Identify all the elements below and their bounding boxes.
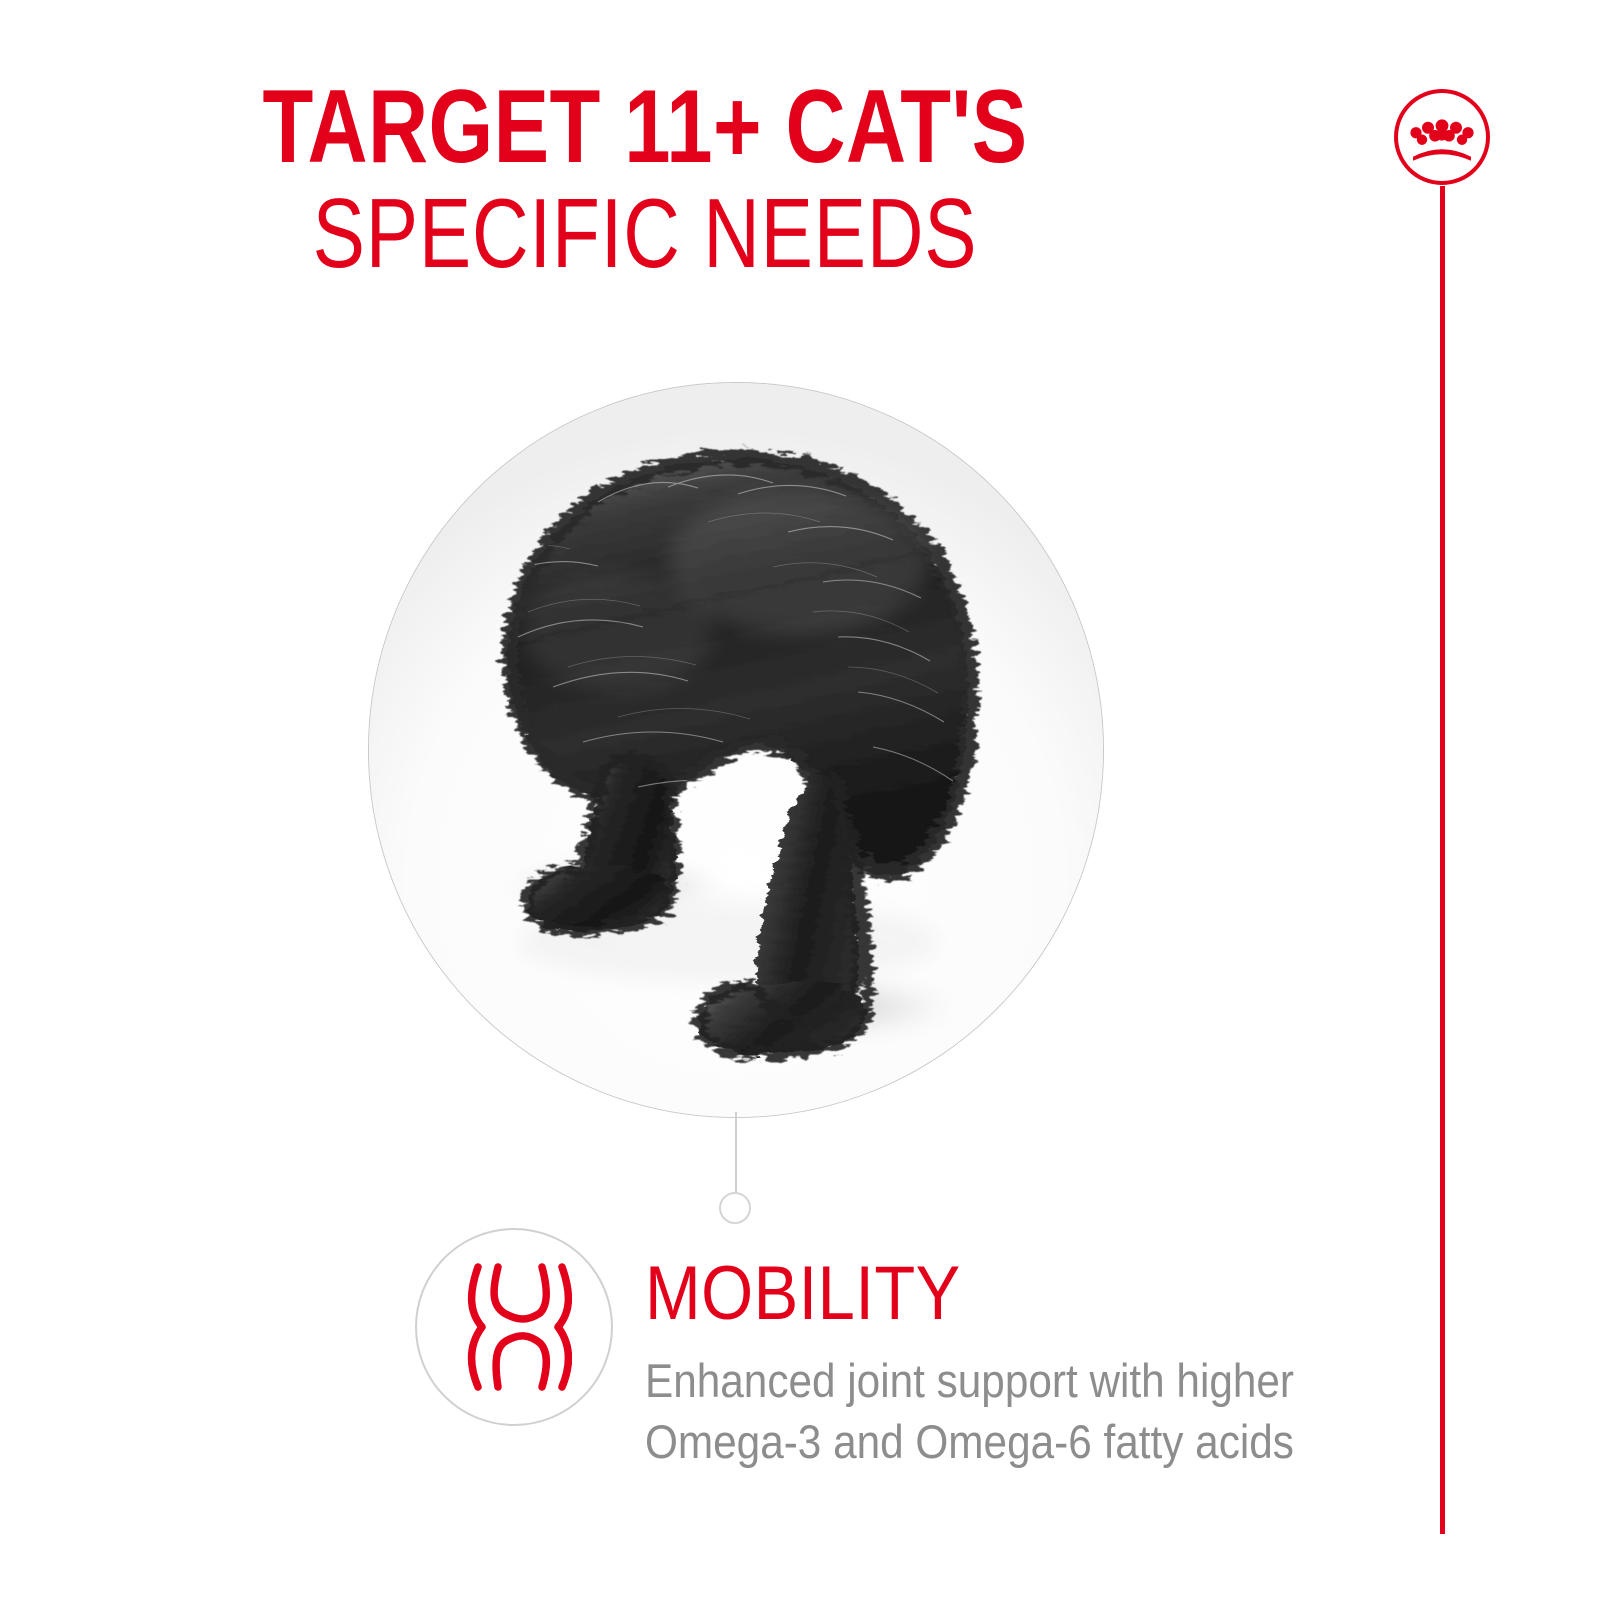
benefit-description: Enhanced joint support with higher Omega… — [645, 1350, 1302, 1472]
cat-hind-legs-photo — [368, 382, 1104, 1118]
crown-glyph-icon — [1409, 117, 1475, 161]
joint-glyph-icon — [456, 1261, 572, 1393]
page-title: TARGET 11+ CAT'S SPECIFIC NEEDS — [0, 78, 1290, 280]
brand-vertical-rule — [1440, 186, 1445, 1534]
headline-line-2: SPECIFIC NEEDS — [129, 186, 1161, 280]
benefit-description-line-1: Enhanced joint support with higher — [645, 1350, 1302, 1411]
poster-canvas: TARGET 11+ CAT'S SPECIFIC NEEDS — [0, 0, 1600, 1600]
benefit-block-mobility: MOBILITY Enhanced joint support with hig… — [415, 1228, 1375, 1528]
royal-canin-crown-icon — [1394, 89, 1490, 185]
benefit-description-line-2: Omega-3 and Omega-6 fatty acids — [645, 1411, 1302, 1472]
joint-mobility-icon — [415, 1228, 613, 1426]
benefit-title: MOBILITY — [645, 1256, 1287, 1332]
benefit-text: MOBILITY Enhanced joint support with hig… — [645, 1256, 1375, 1472]
cat-photo-illustration — [368, 382, 1104, 1118]
connector-pin-icon — [719, 1192, 751, 1224]
headline-line-1: TARGET 11+ CAT'S — [129, 78, 1161, 178]
connector-line — [735, 1112, 737, 1194]
